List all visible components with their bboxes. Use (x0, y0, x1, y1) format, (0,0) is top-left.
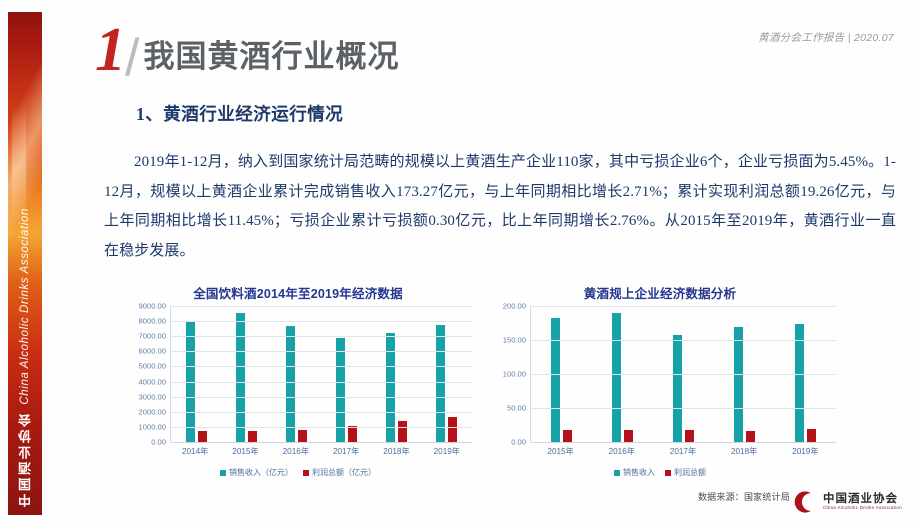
gridline (171, 366, 472, 367)
plot (170, 306, 472, 442)
gridline (171, 397, 472, 398)
bar-revenue (734, 327, 743, 442)
chart-title: 全国饮料酒2014年至2019年经济数据 (124, 283, 472, 302)
bar-profit (746, 431, 755, 442)
report-meta: 黄酒分会工作报告 | 2020.07 (758, 30, 894, 45)
bar-revenue (236, 313, 245, 442)
bar-revenue (386, 333, 395, 442)
y-axis-tick: 4000.00 (139, 377, 166, 386)
bar-group (336, 306, 357, 442)
association-logo-mark (793, 489, 819, 515)
bar-group (436, 306, 457, 442)
data-source-note: 数据来源：国家统计局 (698, 490, 790, 503)
gridline (171, 442, 472, 443)
y-axis: 0.0050.00100.00150.00200.00 (484, 306, 530, 442)
y-axis-tick: 8000.00 (139, 317, 166, 326)
bar-groups (171, 306, 472, 442)
x-axis-tick: 2016年 (609, 445, 635, 457)
title-separator: / (125, 32, 139, 84)
chart-huangjiu-above-scale: 黄酒规上企业经济数据分析 0.0050.00100.00150.00200.00… (484, 283, 836, 483)
x-axis: 2015年2016年2017年2018年2019年 (530, 442, 836, 457)
x-axis-tick: 2018年 (383, 445, 409, 457)
chart-title: 黄酒规上企业经济数据分析 (484, 283, 836, 302)
y-axis-tick: 100.00 (503, 370, 526, 379)
bar-revenue (436, 325, 445, 442)
y-axis-tick: 5000.00 (139, 362, 166, 371)
brand-sidebar-chinese: 中国酒业协会 (16, 411, 35, 507)
bar-profit (298, 430, 307, 442)
legend-item: 利润总额（亿元） (303, 467, 376, 478)
bar-group (386, 306, 407, 442)
brand-sidebar-english: China Alcoholic Drinks Association (19, 208, 31, 405)
slide-canvas: China Alcoholic Drinks Association 中国酒业协… (0, 0, 920, 527)
y-axis: 0.001000.002000.003000.004000.005000.006… (124, 306, 170, 442)
bar-revenue (795, 324, 804, 442)
legend-item: 销售收入（亿元） (220, 467, 293, 478)
gridline (171, 427, 472, 428)
brand-sidebar-text: China Alcoholic Drinks Association 中国酒业协… (8, 208, 42, 507)
brand-sidebar: China Alcoholic Drinks Association 中国酒业协… (8, 12, 42, 515)
x-axis-tick: 2015年 (232, 445, 258, 457)
legend-label: 销售收入 (623, 467, 655, 478)
x-axis-tick: 2019年 (792, 445, 818, 457)
gridline (531, 374, 836, 375)
chart-national-beverage-alcohol: 全国饮料酒2014年至2019年经济数据 0.001000.002000.003… (124, 283, 472, 483)
chart-legend: 销售收入利润总额 (484, 467, 836, 478)
bar-group (236, 306, 257, 442)
page-title-text: 我国黄酒行业概况 (143, 31, 399, 80)
legend-swatch (614, 470, 620, 476)
page-title: 1 / 我国黄酒行业概况 (95, 18, 399, 80)
bar-group (186, 306, 207, 442)
gridline (171, 412, 472, 413)
y-axis-tick: 9000.00 (139, 302, 166, 311)
legend-label: 利润总额 (674, 467, 706, 478)
x-axis-tick: 2017年 (333, 445, 359, 457)
bar-profit (563, 430, 572, 442)
x-axis: 2014年2015年2016年2017年2018年2019年 (170, 442, 472, 457)
y-axis-tick: 7000.00 (139, 332, 166, 341)
bar-profit (248, 431, 257, 442)
gridline (171, 306, 472, 307)
plot (530, 306, 836, 442)
bar-profit (624, 430, 633, 442)
legend-swatch (303, 470, 309, 476)
bar-revenue (286, 326, 295, 442)
gridline (531, 306, 836, 307)
bar-group (286, 306, 307, 442)
section-number: 1 (95, 21, 124, 80)
association-logo-text: 中国酒业协会 China Alcoholic Drinks Associatio… (823, 493, 902, 511)
y-axis-tick: 50.00 (507, 404, 526, 413)
gridline (531, 442, 836, 443)
legend-swatch (665, 470, 671, 476)
legend-item: 销售收入 (614, 467, 655, 478)
chart-plot-area: 0.001000.002000.003000.004000.005000.006… (124, 306, 472, 442)
x-axis-tick: 2019年 (434, 445, 460, 457)
bar-profit (807, 429, 816, 442)
gridline (171, 351, 472, 352)
x-axis-tick: 2016年 (283, 445, 309, 457)
gridline (531, 340, 836, 341)
legend-label: 销售收入（亿元） (229, 467, 293, 478)
y-axis-tick: 6000.00 (139, 347, 166, 356)
legend-swatch (220, 470, 226, 476)
bar-profit (448, 417, 457, 442)
gridline (171, 321, 472, 322)
body-paragraph: 2019年1-12月，纳入到国家统计局范畴的规模以上黄酒生产企业110家，其中亏… (104, 148, 896, 266)
bar-revenue (673, 335, 682, 442)
y-axis-tick: 2000.00 (139, 407, 166, 416)
association-logo: 中国酒业协会 China Alcoholic Drinks Associatio… (793, 489, 902, 515)
y-axis-tick: 200.00 (503, 302, 526, 311)
y-axis-tick: 0.00 (151, 438, 166, 447)
legend-label: 利润总额（亿元） (312, 467, 376, 478)
x-axis-tick: 2018年 (731, 445, 757, 457)
bar-profit (348, 426, 357, 442)
x-axis-tick: 2015年 (547, 445, 573, 457)
bar-revenue (612, 313, 621, 442)
gridline (171, 382, 472, 383)
y-axis-tick: 1000.00 (139, 422, 166, 431)
x-axis-tick: 2014年 (182, 445, 208, 457)
y-axis-tick: 3000.00 (139, 392, 166, 401)
legend-item: 利润总额 (665, 467, 706, 478)
chart-legend: 销售收入（亿元）利润总额（亿元） (124, 467, 472, 478)
gridline (531, 408, 836, 409)
bar-profit (198, 431, 207, 442)
bar-profit (685, 430, 694, 442)
gridline (171, 336, 472, 337)
bar-revenue (551, 318, 560, 442)
y-axis-tick: 150.00 (503, 336, 526, 345)
bar-profit (398, 421, 407, 442)
section-subtitle: 1、黄酒行业经济运行情况 (136, 101, 343, 126)
association-logo-chinese: 中国酒业协会 (823, 493, 902, 505)
association-logo-english: China Alcoholic Drinks Association (823, 506, 902, 511)
chart-plot-area: 0.0050.00100.00150.00200.00 (484, 306, 836, 442)
x-axis-tick: 2017年 (670, 445, 696, 457)
y-axis-tick: 0.00 (511, 438, 526, 447)
